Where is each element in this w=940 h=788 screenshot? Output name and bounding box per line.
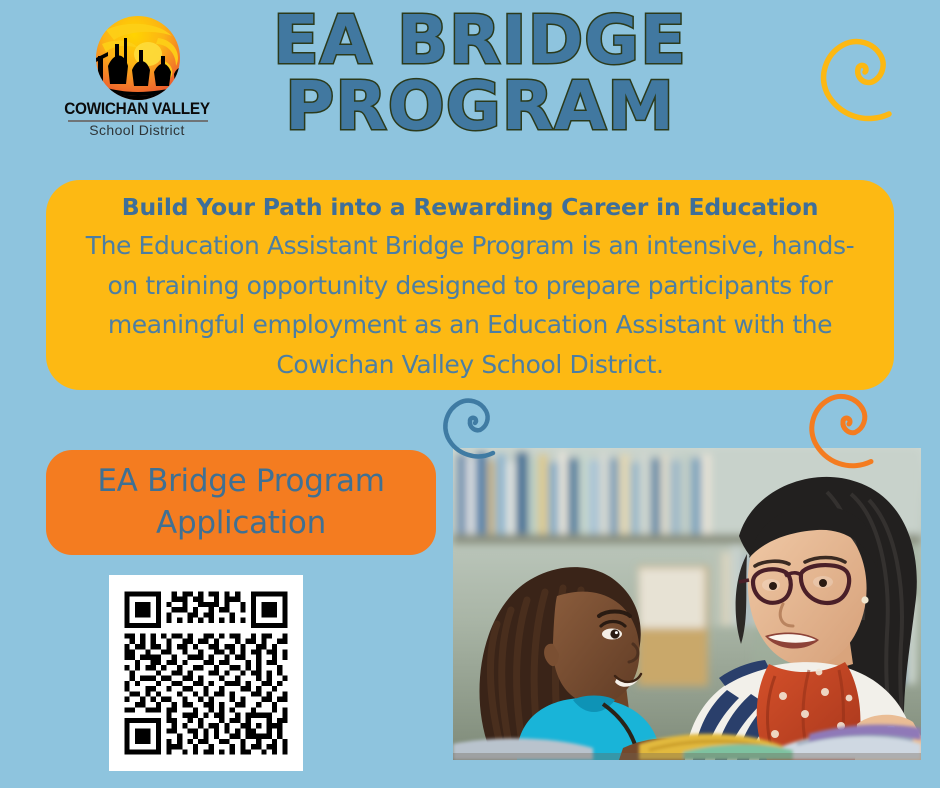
program-description-card: Build Your Path into a Rewarding Career … <box>46 180 894 390</box>
application-cta-label: EA Bridge Program Application <box>97 461 384 545</box>
application-cta-button[interactable]: EA Bridge Program Application <box>46 450 436 555</box>
application-qr-code[interactable] <box>109 575 303 771</box>
card-heading: Build Your Path into a Rewarding Career … <box>64 190 876 225</box>
logo-subtitle: School District <box>58 122 216 138</box>
spiral-decoration-center-icon <box>432 382 512 462</box>
cta-line-1: EA Bridge Program <box>97 463 384 499</box>
card-body-line: The Education Assistant Bridge Program i… <box>64 226 876 266</box>
spiral-decoration-bottom-right-icon <box>795 372 895 472</box>
card-body-line: Cowichan Valley School District. <box>64 345 876 385</box>
cta-line-2: Application <box>156 505 326 541</box>
educator-and-student-in-library-photo <box>453 448 921 760</box>
page-title-line-2: PROGRAM <box>255 74 705 140</box>
poster-canvas: COWICHAN VALLEY School District EA BRIDG… <box>0 0 940 788</box>
page-title: EA BRIDGE PROGRAM <box>255 8 705 139</box>
logo-organization-name: COWICHAN VALLEY <box>64 100 211 119</box>
spiral-decoration-top-right-icon <box>805 14 917 126</box>
card-body-line: on training opportunity designed to prep… <box>64 266 876 306</box>
card-body-line: meaningful employment as an Education As… <box>64 305 876 345</box>
canoe-sun-logo-icon <box>62 14 212 102</box>
card-body: The Education Assistant Bridge Program i… <box>64 226 876 384</box>
district-logo: COWICHAN VALLEY School District <box>62 14 212 139</box>
